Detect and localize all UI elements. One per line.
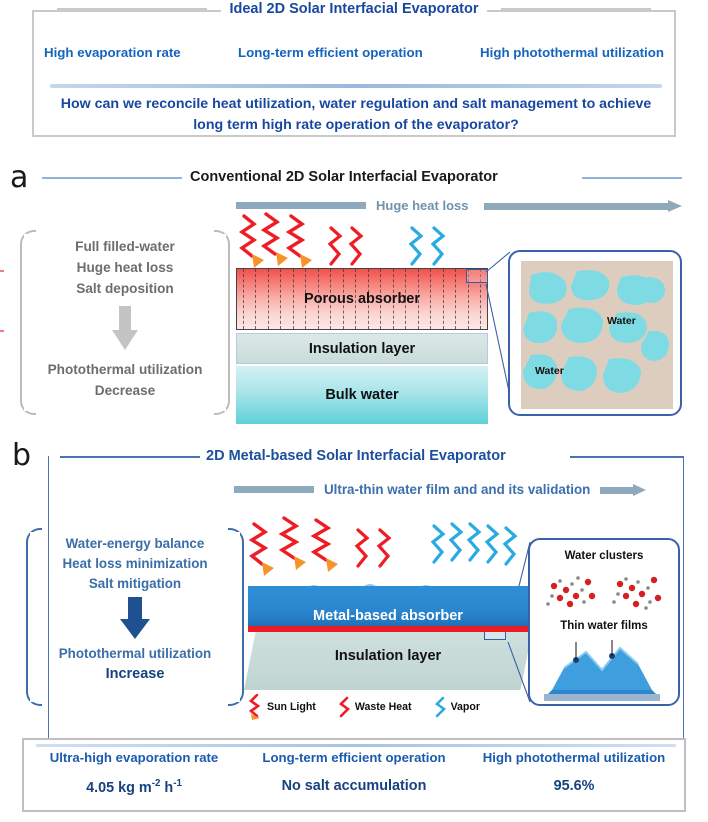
ideal-feature-2: High photothermal utilization xyxy=(480,45,664,60)
result-value-0: 4.05 kg m-2 h-1 xyxy=(24,778,244,796)
result-column-0: Ultra-high evaporation rate 4.05 kg m-2 … xyxy=(24,750,244,796)
result-head-2: High photothermal utilization xyxy=(464,750,684,765)
sun-light-icon xyxy=(252,518,328,564)
panel-a-title: Conventional 2D Solar Interfacial Evapor… xyxy=(190,169,498,185)
porous-microstructure-image: Water Water xyxy=(521,261,673,409)
panel-a-rule-left xyxy=(42,177,182,179)
insulation-layer-label-b: Insulation layer xyxy=(244,648,532,664)
ideal-feature-1: Long-term efficient operation xyxy=(238,45,423,60)
title-rule-right xyxy=(501,8,651,10)
panel-a-outcome-label: Photothermal utilization xyxy=(48,359,203,380)
panel-a-issue-0: Full filled-water xyxy=(75,236,175,257)
ideal-evaporator-panel: Ideal 2D Solar Interfacial Evaporator Hi… xyxy=(32,10,676,137)
ideal-title-row: Ideal 2D Solar Interfacial Evaporator xyxy=(34,1,674,17)
heat-loss-banner: Huge heat loss xyxy=(236,198,682,213)
result-value-1: No salt accumulation xyxy=(244,778,464,794)
ideal-title: Ideal 2D Solar Interfacial Evaporator xyxy=(221,1,486,17)
panel-b-title: 2D Metal-based Solar Interfacial Evapora… xyxy=(206,448,506,464)
heat-loss-arrow-icon xyxy=(478,200,682,212)
panel-a-inset: Water Water xyxy=(508,250,682,416)
panel-a-inset-water-label-1: Water xyxy=(535,365,564,377)
down-arrow-icon xyxy=(112,306,138,350)
heat-loss-label: Huge heat loss xyxy=(376,198,468,213)
result-column-1: Long-term efficient operation No salt ac… xyxy=(244,750,464,794)
results-grid: Ultra-high evaporation rate 4.05 kg m-2 … xyxy=(24,750,684,796)
waste-heat-icon xyxy=(330,228,361,264)
sun-light-icon xyxy=(242,214,302,256)
panel-a-issue-2: Salt deposition xyxy=(76,278,173,299)
panel-b-outcome-label: Photothermal utilization xyxy=(59,644,212,664)
insulation-layer-label-a: Insulation layer xyxy=(309,341,415,357)
panel-a-layer-stack: Porous absorber Insulation layer Bulk wa… xyxy=(236,268,488,424)
ultrathin-arrow-icon xyxy=(600,484,646,496)
panel-b-benefit-0: Water-energy balance xyxy=(66,534,205,554)
down-arrow-icon xyxy=(120,597,150,639)
panel-b-ray-group xyxy=(248,516,528,578)
panel-b-summary-bracket: Water-energy balance Heat loss minimizat… xyxy=(26,528,244,706)
panel-b-label: b xyxy=(12,438,31,473)
result-head-1: Long-term efficient operation xyxy=(244,750,464,765)
panel-b-outcome-value: Increase xyxy=(106,664,165,686)
insulation-layer-a: Insulation layer xyxy=(236,333,488,364)
panel-a: a Conventional 2D Solar Interfacial Evap… xyxy=(0,150,708,430)
thin-water-film-icon xyxy=(542,638,670,702)
panel-b: b 2D Metal-based Solar Interfacial Evapo… xyxy=(0,432,708,732)
legend-item-vapor: Vapor xyxy=(434,696,480,718)
sun-arrowhead-icon xyxy=(252,252,312,268)
ultrathin-label: Ultra-thin water film and and its valida… xyxy=(324,482,590,497)
result-head-0: Ultra-high evaporation rate xyxy=(24,750,244,765)
panel-b-legend: Sun Light Waste Heat Vapor xyxy=(248,694,518,720)
legend-item-waste-heat: Waste Heat xyxy=(338,696,412,718)
ideal-divider xyxy=(50,84,662,88)
legend-label-vapor: Vapor xyxy=(451,701,480,713)
panel-a-label: a xyxy=(10,160,28,195)
porous-absorber-label: Porous absorber xyxy=(304,291,420,307)
figure-root: Ideal 2D Solar Interfacial Evaporator Hi… xyxy=(0,0,708,822)
panel-b-benefit-2: Salt mitigation xyxy=(89,574,181,594)
panel-b-inset-label-1: Thin water films xyxy=(530,620,678,632)
panel-a-ray-group xyxy=(236,212,496,272)
panel-b-rule-left xyxy=(60,456,200,458)
water-cluster-icon xyxy=(540,570,674,616)
panel-b-rule-right xyxy=(570,456,684,458)
ideal-feature-0: High evaporation rate xyxy=(44,45,181,60)
sun-light-icon xyxy=(248,694,263,720)
bulk-water-layer: Bulk water xyxy=(236,366,488,424)
results-summary-panel: Ultra-high evaporation rate 4.05 kg m-2 … xyxy=(22,738,686,812)
porous-absorber-layer: Porous absorber xyxy=(236,268,488,330)
panel-a-rule-right xyxy=(582,177,682,179)
vapor-icon xyxy=(411,228,443,264)
ideal-feature-list: High evaporation rate Long-term efficien… xyxy=(34,45,674,60)
heat-loss-bar-left xyxy=(236,202,366,209)
ultrathin-film-banner: Ultra-thin water film and and its valida… xyxy=(234,482,684,497)
ideal-question: How can we reconcile heat utilization, w… xyxy=(56,94,656,135)
panel-a-outcome-value: Decrease xyxy=(95,380,155,401)
legend-label-waste-heat: Waste Heat xyxy=(355,701,412,713)
results-divider xyxy=(36,744,676,747)
panel-b-inset: Water clusters xyxy=(528,538,680,706)
result-column-2: High photothermal utilization 95.6% xyxy=(464,750,684,794)
panel-a-issue-1: Huge heat loss xyxy=(77,257,174,278)
waste-heat-icon xyxy=(357,530,389,566)
bulk-water-label: Bulk water xyxy=(325,387,398,403)
ultrathin-bar-left xyxy=(234,486,314,493)
panel-a-inset-water-label-0: Water xyxy=(607,315,636,327)
pore-cells-icon xyxy=(521,261,673,409)
title-rule-left xyxy=(57,8,207,10)
legend-label-sun-light: Sun Light xyxy=(267,701,316,713)
legend-item-sun-light: Sun Light xyxy=(248,694,316,720)
vapor-icon xyxy=(434,696,447,718)
panel-a-summary-bracket: Full filled-water Huge heat loss Salt de… xyxy=(20,230,230,415)
panel-b-inset-label-0: Water clusters xyxy=(530,550,678,562)
waste-heat-icon xyxy=(338,696,351,718)
hot-interface-line xyxy=(248,626,528,632)
result-value-2: 95.6% xyxy=(464,778,684,794)
metal-absorber-label: Metal-based absorber xyxy=(248,608,528,624)
panel-b-benefit-1: Heat loss minimization xyxy=(62,554,207,574)
